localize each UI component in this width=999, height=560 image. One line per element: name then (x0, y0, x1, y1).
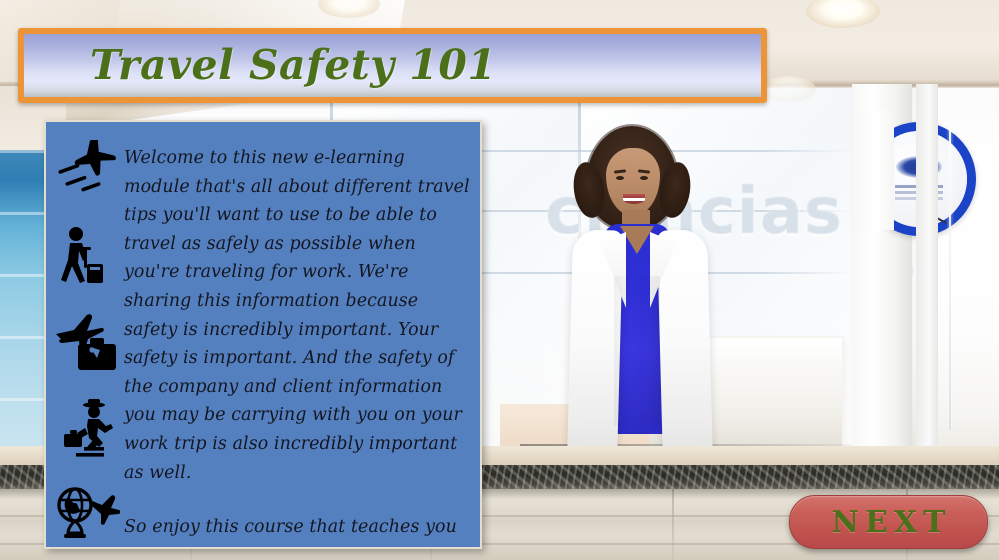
next-button-label: NEXT (826, 505, 952, 540)
page-title: Travel Safety 101 (90, 41, 496, 89)
closing-paragraph: So enjoy this course that teaches you th… (124, 513, 470, 549)
globe-and-airplane-icon (54, 484, 120, 546)
hanging-cord (949, 120, 951, 430)
slide-title-bar: Travel Safety 101 (18, 28, 767, 103)
presenter-mouth (623, 194, 645, 204)
content-panel: Welcome to this new e-learning module th… (44, 120, 482, 549)
pillar-front-face (852, 110, 894, 230)
elearning-slide: ciencias (0, 0, 999, 560)
businessman-running-stairs-icon (54, 398, 120, 460)
presenter-eye-left (616, 176, 624, 180)
intro-paragraph: Welcome to this new e-learning module th… (124, 144, 470, 487)
presenter-eye-right (640, 176, 648, 180)
airplane-takeoff-icon (54, 140, 120, 202)
counter-seam-vertical (672, 489, 674, 560)
lab-coat-shading (614, 276, 660, 426)
presenter-eyebrow-left (614, 169, 626, 173)
pillar-side-face (916, 84, 938, 484)
airplane-and-briefcase-icon (54, 312, 120, 374)
traveler-with-luggage-icon (54, 226, 120, 288)
icon-column (54, 132, 120, 537)
next-button[interactable]: NEXT (789, 495, 988, 549)
presenter-eyebrow-right (638, 169, 650, 173)
panel-text-column: Welcome to this new e-learning module th… (124, 144, 470, 549)
